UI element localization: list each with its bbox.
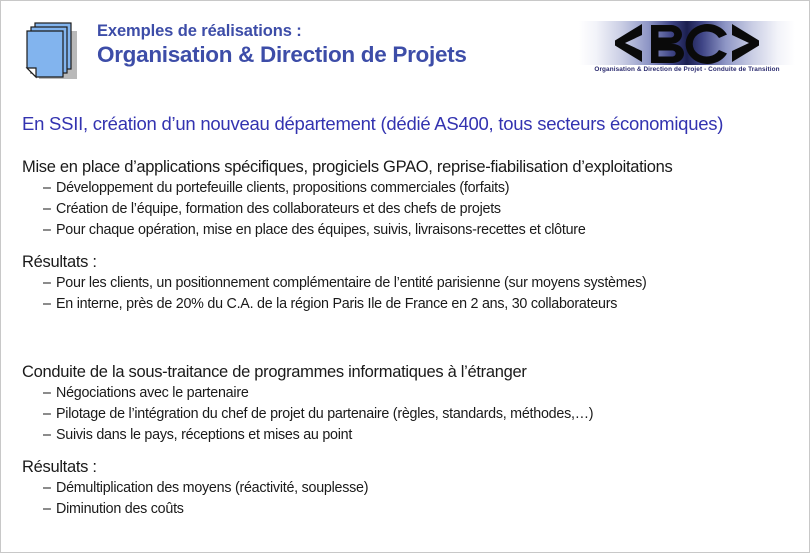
list-item-label: Suivis dans le pays, réceptions et mises…	[56, 427, 352, 443]
list-item: – Développement du portefeuille clients,…	[22, 178, 792, 199]
list-item: – Suivis dans le pays, réceptions et mis…	[22, 425, 792, 446]
block-title: Conduite de la sous-traitance de program…	[22, 361, 792, 383]
slide-canvas: Exemples de réalisations : Organisation …	[0, 0, 810, 553]
list-item: – Négociations avec le partenaire	[22, 383, 792, 404]
block-title: Résultats :	[22, 251, 792, 273]
bullet-list: – Développement du portefeuille clients,…	[22, 178, 792, 241]
header-title-line-2: Organisation & Direction de Projets	[97, 41, 567, 68]
list-item-label: Pilotage de l’intégration du chef de pro…	[56, 406, 593, 422]
content-block-1: Mise en place d’applications spécifiques…	[22, 156, 792, 241]
list-item: – Pour chaque opération, mise en place d…	[22, 220, 792, 241]
bullet-list: – Démultiplication des moyens (réactivit…	[22, 478, 792, 520]
list-item-label: En interne, près de 20% du C.A. de la ré…	[56, 296, 617, 312]
list-item-label: Diminution des coûts	[56, 501, 184, 517]
header-title-line-1: Exemples de réalisations :	[97, 21, 567, 41]
list-item-label: Pour chaque opération, mise en place des…	[56, 222, 586, 238]
bullet-dash: –	[43, 478, 51, 499]
list-item-label: Démultiplication des moyens (réactivité,…	[56, 480, 368, 496]
bullet-list: – Pour les clients, un positionnement co…	[22, 273, 792, 315]
block-title: Mise en place d’applications spécifiques…	[22, 156, 792, 178]
header-title-block: Exemples de réalisations : Organisation …	[97, 21, 567, 68]
bullet-list: – Négociations avec le partenaire – Pilo…	[22, 383, 792, 446]
list-item-label: Développement du portefeuille clients, p…	[56, 180, 509, 196]
list-item: – Pour les clients, un positionnement co…	[22, 273, 792, 294]
list-item-label: Pour les clients, un positionnement comp…	[56, 275, 647, 291]
list-item: – Pilotage de l’intégration du chef de p…	[22, 404, 792, 425]
content-block-4: Résultats : – Démultiplication des moyen…	[22, 456, 792, 520]
bullet-dash: –	[43, 273, 51, 294]
block-title: Résultats :	[22, 456, 792, 478]
bullet-dash: –	[43, 383, 51, 404]
content-block-3: Conduite de la sous-traitance de program…	[22, 361, 792, 446]
bullet-dash: –	[43, 178, 51, 199]
list-item-label: Négociations avec le partenaire	[56, 385, 249, 401]
bullet-dash: –	[43, 499, 51, 520]
bullet-dash: –	[43, 404, 51, 425]
bullet-dash: –	[43, 425, 51, 446]
list-item: – En interne, près de 20% du C.A. de la …	[22, 294, 792, 315]
content-block-2: Résultats : – Pour les clients, un posit…	[22, 251, 792, 315]
list-item: – Création de l’équipe, formation des co…	[22, 199, 792, 220]
slide-header: Exemples de réalisations : Organisation …	[1, 1, 810, 93]
section-headline: En SSII, création d’un nouveau départeme…	[22, 113, 723, 135]
list-item: – Démultiplication des moyens (réactivit…	[22, 478, 792, 499]
brand-logo: Organisation & Direction de Projet - Con…	[579, 21, 795, 81]
bullet-dash: –	[43, 199, 51, 220]
brand-tagline: Organisation & Direction de Projet - Con…	[579, 66, 795, 73]
bullet-dash: –	[43, 220, 51, 241]
document-stack-icon	[23, 19, 85, 81]
list-item: – Diminution des coûts	[22, 499, 792, 520]
bullet-dash: –	[43, 294, 51, 315]
list-item-label: Création de l’équipe, formation des coll…	[56, 201, 501, 217]
brand-bc-glyph-icon	[579, 21, 795, 65]
brand-logo-mark	[579, 21, 795, 65]
